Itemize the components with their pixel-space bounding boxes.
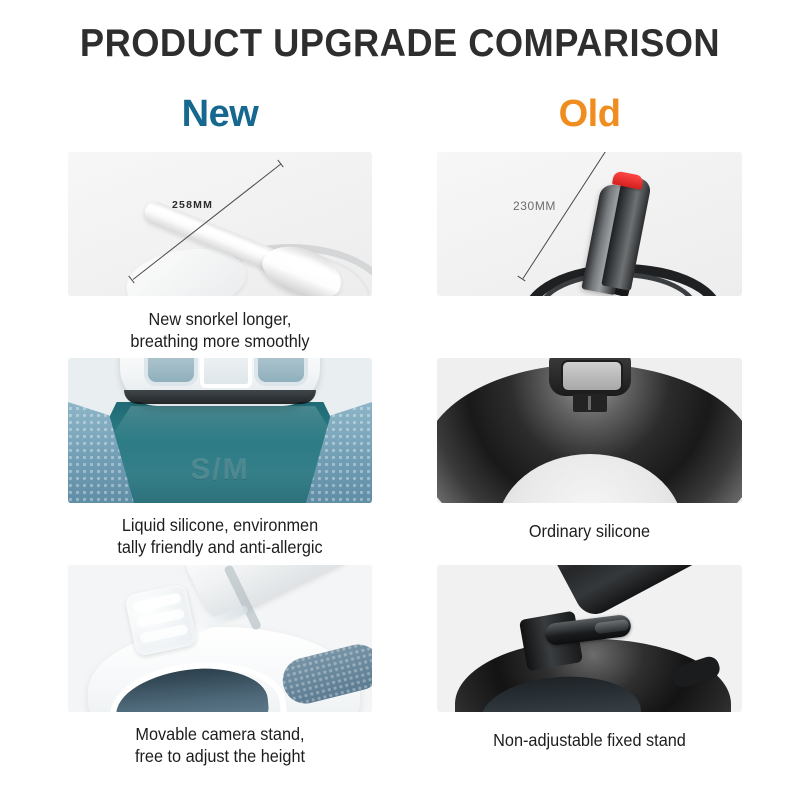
air-vent-center bbox=[200, 358, 252, 388]
caption-new-silicone: Liquid silicone, environmen tally friend… bbox=[79, 515, 362, 558]
artwork-new-silicone: S/M bbox=[68, 358, 372, 503]
caption-line-1: Liquid silicone, environmen bbox=[79, 515, 362, 537]
infographic-page: PRODUCT UPGRADE COMPARISON New Old 258MM bbox=[0, 0, 800, 800]
image-panel-old-camera-stand bbox=[437, 565, 742, 712]
image-panel-new-snorkel: 258MM bbox=[68, 152, 372, 296]
caption-line-2: free to adjust the height bbox=[79, 746, 362, 768]
column-header-old: Old bbox=[437, 93, 742, 136]
silicone-sheen bbox=[108, 406, 338, 442]
caption-line-1: New snorkel longer, bbox=[79, 309, 362, 331]
caption-old-silicone: Ordinary silicone bbox=[448, 521, 732, 543]
visor-rim bbox=[124, 390, 316, 404]
caption-line-1: Ordinary silicone bbox=[448, 521, 732, 543]
caption-line-1: Non-adjustable fixed stand bbox=[448, 730, 732, 752]
air-vent-left bbox=[144, 358, 198, 386]
image-panel-new-silicone: S/M bbox=[68, 358, 372, 503]
camera-mount-clear bbox=[124, 583, 198, 657]
valve-tab bbox=[573, 394, 607, 412]
page-title: PRODUCT UPGRADE COMPARISON bbox=[28, 22, 772, 66]
caption-line-1: Movable camera stand, bbox=[79, 724, 362, 746]
artwork-old-snorkel: 230MM bbox=[437, 152, 742, 296]
air-vent-right bbox=[254, 358, 308, 386]
artwork-old-silicone bbox=[437, 358, 742, 503]
caption-new-camera-stand: Movable camera stand, free to adjust the… bbox=[79, 724, 362, 767]
image-panel-old-silicone bbox=[437, 358, 742, 503]
snorkel-tube-dark bbox=[557, 170, 677, 290]
caption-line-2: tally friendly and anti-allergic bbox=[79, 537, 362, 559]
caption-new-snorkel: New snorkel longer, breathing more smoot… bbox=[79, 309, 362, 352]
artwork-new-camera-stand bbox=[68, 565, 372, 712]
image-panel-old-snorkel: 230MM bbox=[437, 152, 742, 296]
artwork-old-camera-stand bbox=[437, 565, 742, 712]
dimension-label-old: 230MM bbox=[513, 199, 556, 213]
dimension-label-new: 258MM bbox=[172, 199, 213, 211]
caption-old-camera-stand: Non-adjustable fixed stand bbox=[448, 730, 732, 752]
column-header-new: New bbox=[68, 93, 372, 136]
valve-plate bbox=[561, 360, 623, 392]
artwork-new-snorkel: 258MM bbox=[68, 152, 372, 296]
image-panel-new-camera-stand bbox=[68, 565, 372, 712]
caption-line-2: breathing more smoothly bbox=[79, 331, 362, 353]
